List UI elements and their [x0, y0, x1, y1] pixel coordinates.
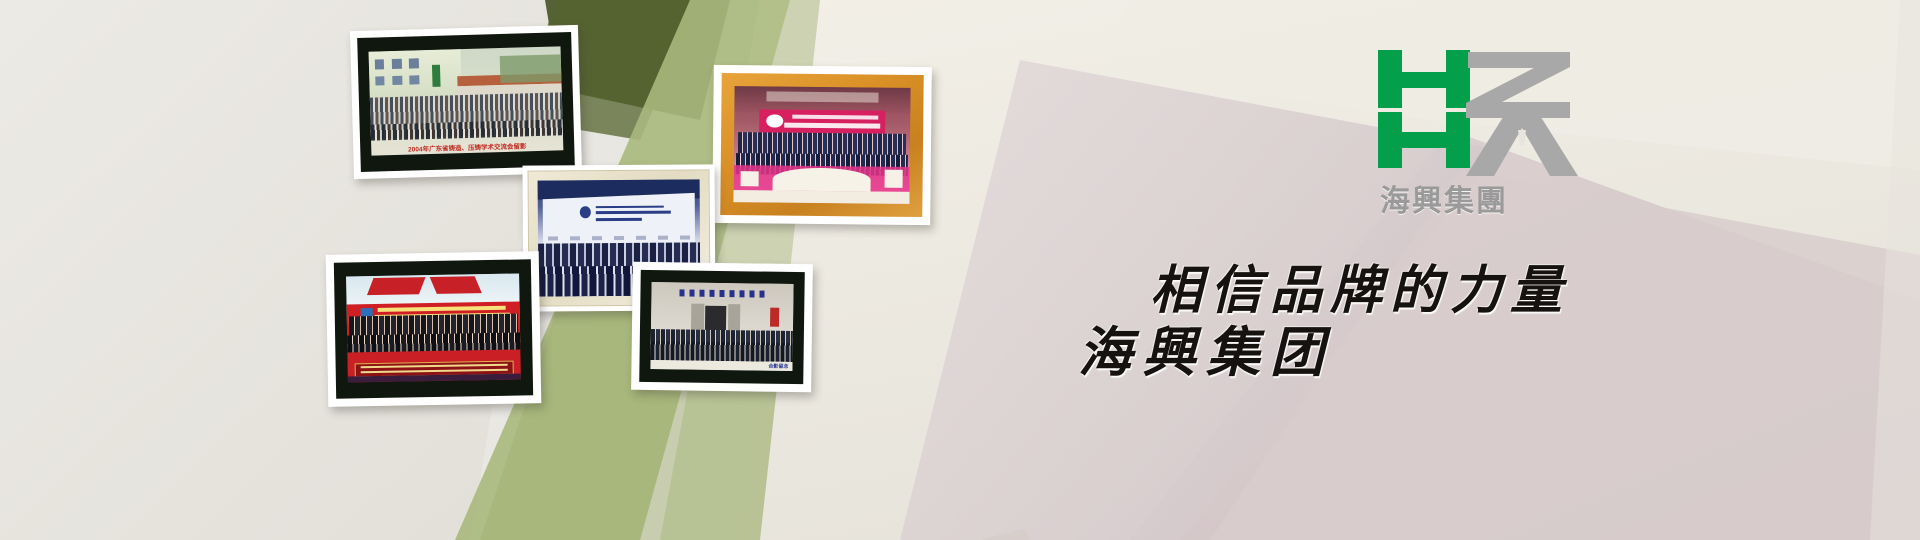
photo-flag — [432, 64, 440, 87]
photo-paper — [885, 170, 903, 188]
promotional-banner: 2004年广东省铸造、压铸学术交流会留影 — [0, 0, 1920, 540]
photo-ceiling-panel — [429, 276, 481, 294]
photo-ceiling-panel — [367, 277, 425, 295]
photo-window — [392, 59, 402, 69]
company-logo[interactable]: 海興集團 — [1378, 50, 1598, 210]
photo-ceiling-light — [766, 91, 879, 103]
photo-banner-text-line2 — [784, 123, 880, 129]
photo-name-row — [360, 369, 508, 374]
photo-matte-dark: 合影留念 — [639, 270, 805, 384]
photo-window — [375, 76, 385, 86]
photo-award-title-cn — [596, 205, 664, 208]
photo-frame-guangdong-2004[interactable]: 2004年广东省铸造、压铸学术交流会留影 — [350, 25, 582, 179]
background-layer — [0, 0, 1920, 540]
photo-award-title-en-1 — [596, 211, 671, 215]
photo-matte-dark: 2004年广东省铸造、压铸学术交流会留影 — [357, 32, 575, 172]
logo-letter-a-gray — [1466, 106, 1578, 176]
logo-letter-h-green — [1378, 50, 1470, 168]
photo-image-guangdong: 2004年广东省铸造、压铸学术交流会留影 — [369, 46, 564, 155]
photo-banner-emblem — [766, 114, 783, 128]
photo-matte-dark — [334, 259, 533, 398]
slogan-line-2: 海興集团 — [1078, 308, 1334, 387]
photo-caption-strip — [733, 190, 909, 203]
photo-frame-hall-group[interactable]: 合影留念 — [631, 262, 813, 393]
photo-frame-anniversary[interactable] — [712, 65, 932, 225]
photo-red-banner — [770, 308, 779, 327]
photo-image-hall-group: 合影留念 — [650, 282, 793, 371]
photo-window — [409, 59, 419, 69]
background-geometry — [0, 0, 1920, 540]
photo-image-2014-meeting — [346, 273, 521, 382]
photo-flowers — [772, 168, 871, 192]
photo-banner-text-line1 — [792, 114, 878, 119]
photo-matte-wood — [720, 73, 923, 217]
photo-backdrop-title — [378, 306, 506, 312]
photo-trees — [499, 55, 561, 84]
photo-caption-hall-group: 合影留念 — [768, 363, 788, 370]
photo-award-subtitles — [548, 235, 691, 241]
photo-award-title-en-2 — [596, 218, 641, 221]
logo-chinese-name: 海興集團 — [1380, 176, 1508, 220]
photo-paper — [741, 171, 759, 186]
photo-frame-2014-meeting[interactable] — [326, 251, 542, 407]
photo-window — [392, 76, 402, 86]
photo-window — [410, 75, 420, 85]
photo-banner — [759, 110, 886, 135]
photo-image-anniversary — [733, 86, 910, 204]
photo-name-row — [360, 364, 508, 369]
photo-window — [375, 60, 385, 70]
photo-group-front-row — [651, 341, 793, 362]
photo-hall-signage — [680, 289, 768, 297]
